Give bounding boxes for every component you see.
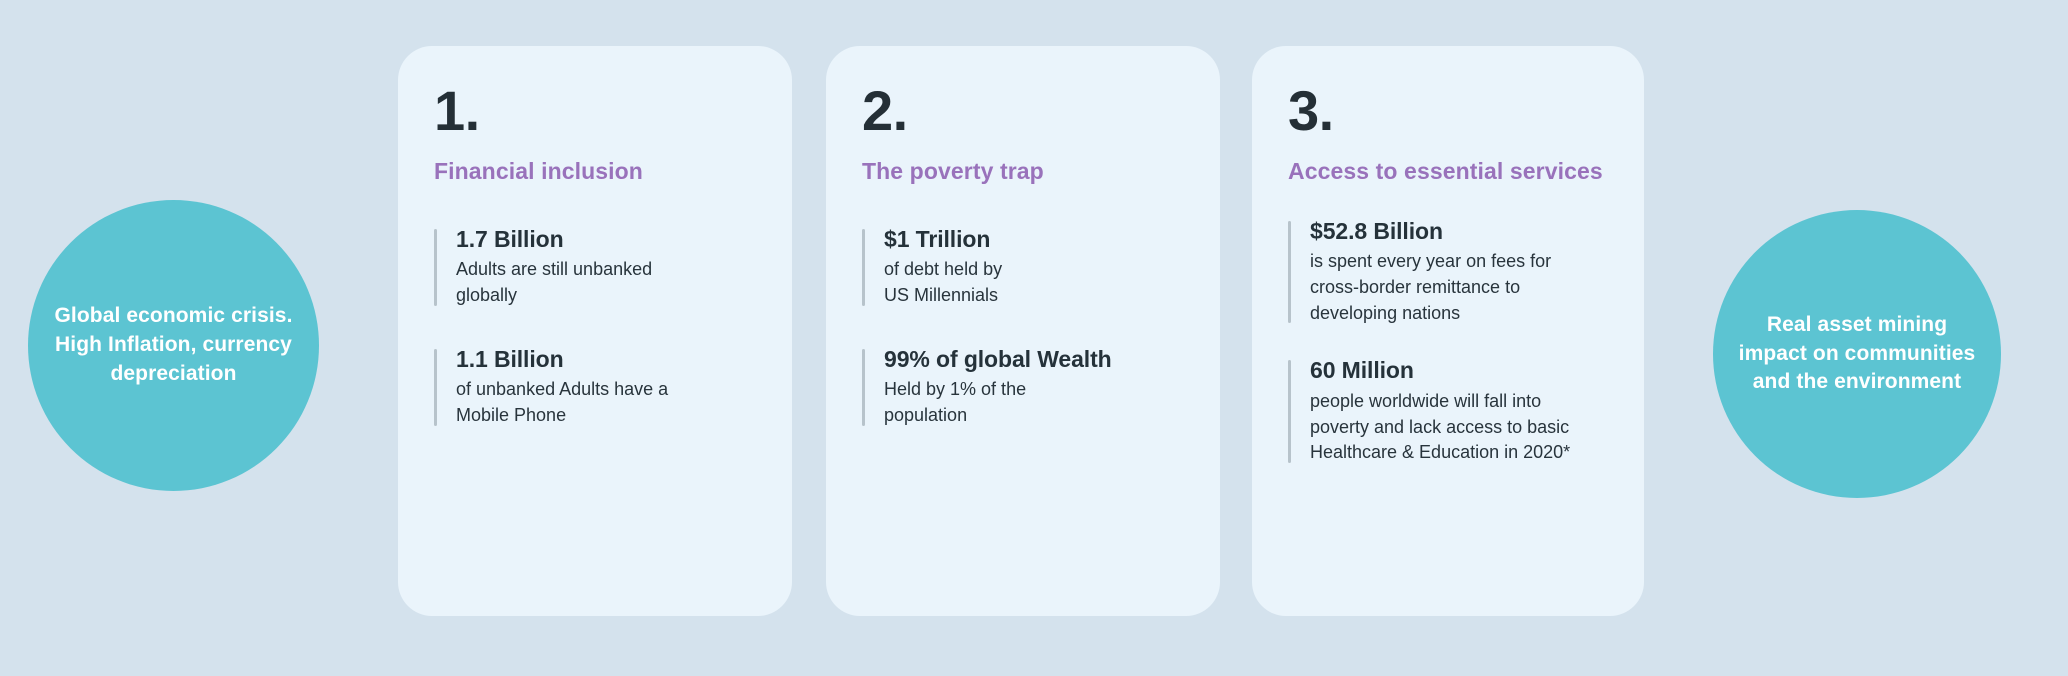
card-1-stat-list: 1.7 Billion Adults are still unbanked gl… [434,225,752,429]
stat-rule-icon [434,229,437,306]
stat-item: $52.8 Billion is spent every year on fee… [1288,217,1604,327]
stat-rule-icon [434,349,437,426]
stat-card-3[interactable]: 3. Access to essential services $52.8 Bi… [1252,46,1644,616]
card-2-title: The poverty trap [862,157,1180,186]
problem-circle-right-text: Real asset mining impact on communities … [1713,311,2001,398]
card-1-title: Financial inclusion [434,157,752,186]
stat-rule-icon [1288,221,1291,324]
stat-rule-icon [862,349,865,426]
stat-item: $1 Trillion of debt held by US Millennia… [862,225,1180,309]
card-2-number: 2. [862,82,1180,139]
problem-circle-left-text: Global economic crisis. High Inflation, … [28,302,319,389]
stat-description: is spent every year on fees for cross-bo… [1310,249,1604,326]
infographic-canvas: Global economic crisis. High Inflation, … [0,0,2068,676]
stat-value: 1.7 Billion [456,225,752,255]
stat-rule-icon [862,229,865,306]
problem-circle-left: Global economic crisis. High Inflation, … [28,200,319,491]
problem-circle-right: Real asset mining impact on communities … [1713,210,2001,498]
card-3-stat-list: $52.8 Billion is spent every year on fee… [1288,217,1604,466]
stat-item: 1.7 Billion Adults are still unbanked gl… [434,225,752,309]
stat-value: 1.1 Billion [456,345,752,375]
stat-card-2[interactable]: 2. The poverty trap $1 Trillion of debt … [826,46,1220,616]
stat-value: $52.8 Billion [1310,217,1604,247]
stat-item: 1.1 Billion of unbanked Adults have a Mo… [434,345,752,429]
card-2-stat-list: $1 Trillion of debt held by US Millennia… [862,225,1180,429]
card-3-number: 3. [1288,82,1604,139]
stat-description: of unbanked Adults have a Mobile Phone [456,377,752,428]
card-3-title: Access to essential services [1288,157,1604,186]
stat-description: of debt held by US Millennials [884,257,1180,308]
stat-rule-icon [1288,360,1291,463]
stat-description: Adults are still unbanked globally [456,257,752,308]
stat-card-1[interactable]: 1. Financial inclusion 1.7 Billion Adult… [398,46,792,616]
stat-item: 99% of global Wealth Held by 1% of the p… [862,345,1180,429]
stat-value: 99% of global Wealth [884,345,1180,375]
stat-value: $1 Trillion [884,225,1180,255]
stat-item: 60 Million people worldwide will fall in… [1288,356,1604,466]
card-1-number: 1. [434,82,752,139]
stat-value: 60 Million [1310,356,1604,386]
stat-description: Held by 1% of the population [884,377,1180,428]
stat-description: people worldwide will fall into poverty … [1310,389,1604,466]
